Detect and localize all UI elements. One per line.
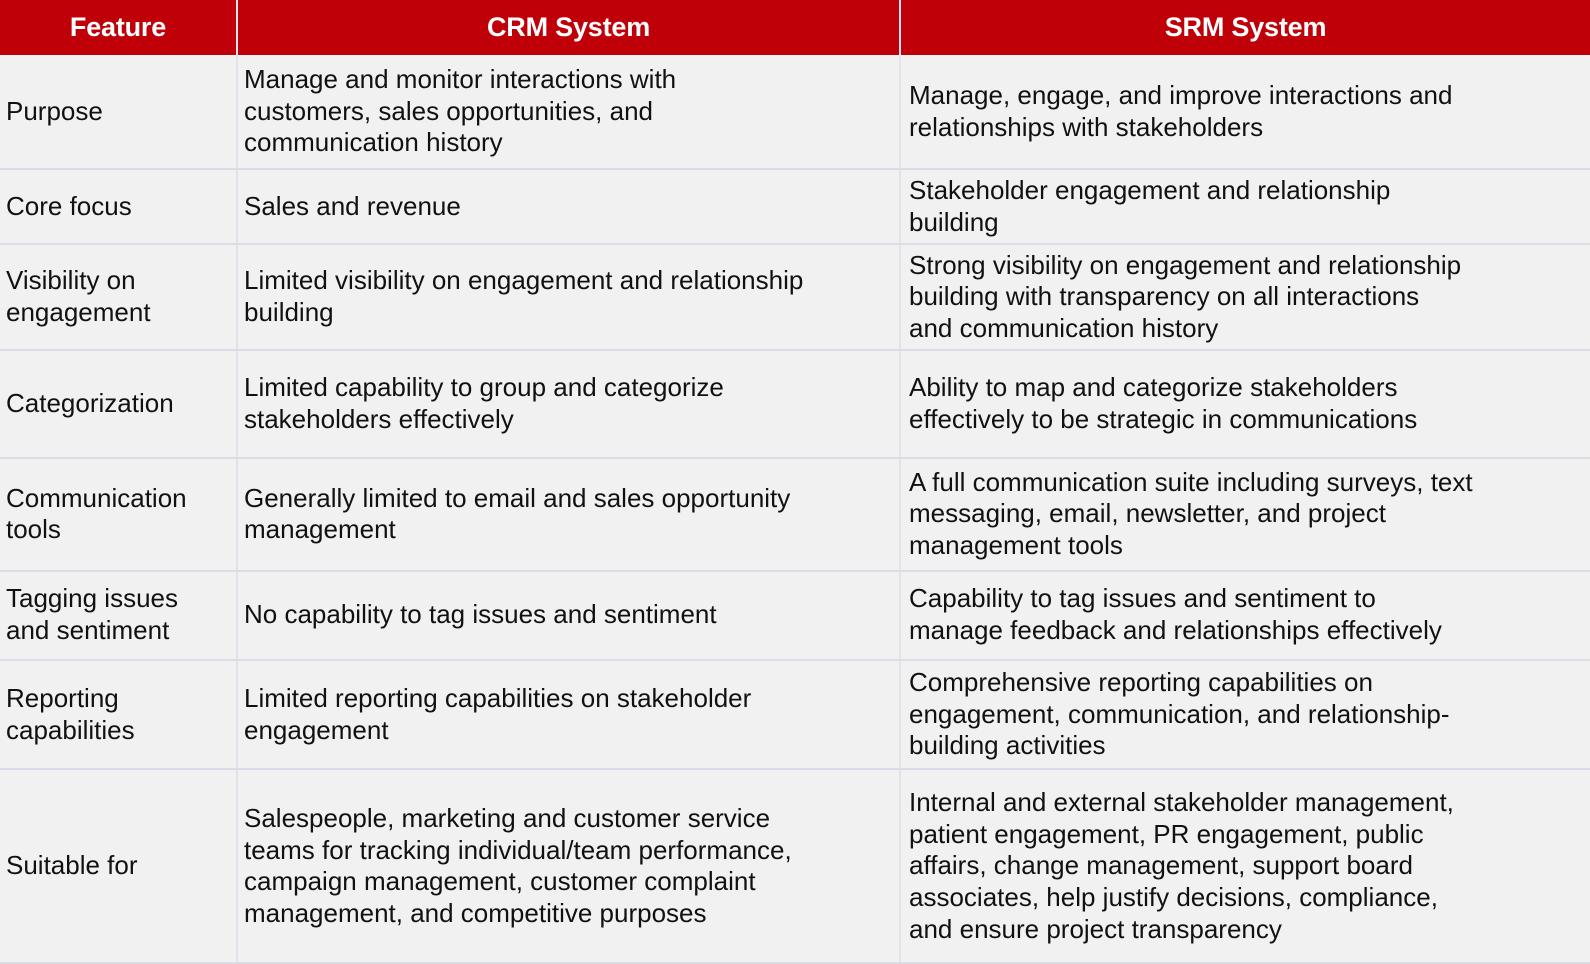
column-header-crm: CRM System	[237, 0, 900, 55]
cell-srm: Ability to map and categorize stakeholde…	[900, 350, 1590, 458]
cell-crm: Generally limited to email and sales opp…	[237, 458, 900, 571]
table-row: Reporting capabilities Limited reporting…	[0, 660, 1590, 770]
crm-value: Salespeople, marketing and customer serv…	[244, 803, 916, 930]
crm-value: Sales and revenue	[244, 191, 916, 223]
column-header-srm: SRM System	[900, 0, 1590, 55]
cell-crm: Limited visibility on engagement and rel…	[237, 244, 900, 350]
srm-value: Stakeholder engagement and relationship …	[909, 175, 1585, 238]
table-row: Purpose Manage and monitor interactions …	[0, 55, 1590, 169]
cell-srm: Stakeholder engagement and relationship …	[900, 169, 1590, 244]
cell-feature: Purpose	[0, 55, 237, 169]
column-header-feature: Feature	[0, 0, 237, 55]
srm-value: A full communication suite including sur…	[909, 467, 1585, 562]
table-row: Core focus Sales and revenue Stakeholder…	[0, 169, 1590, 244]
table-row: Tagging issues and sentiment No capabili…	[0, 571, 1590, 660]
srm-value: Capability to tag issues and sentiment t…	[909, 583, 1585, 646]
feature-label: Reporting capabilities	[6, 683, 242, 746]
cell-feature: Categorization	[0, 350, 237, 458]
cell-crm: Limited capability to group and categori…	[237, 350, 900, 458]
table-row: Visibility on engagement Limited visibil…	[0, 244, 1590, 350]
cell-srm: Comprehensive reporting capabilities on …	[900, 660, 1590, 770]
cell-feature: Core focus	[0, 169, 237, 244]
crm-value: No capability to tag issues and sentimen…	[244, 599, 916, 631]
srm-value: Ability to map and categorize stakeholde…	[909, 372, 1585, 435]
cell-srm: Internal and external stakeholder manage…	[900, 769, 1590, 963]
crm-value: Limited visibility on engagement and rel…	[244, 265, 916, 328]
cell-crm: Limited reporting capabilities on stakeh…	[237, 660, 900, 770]
header-row: Feature CRM System SRM System	[0, 0, 1590, 55]
srm-value: Manage, engage, and improve interactions…	[909, 80, 1585, 143]
cell-srm: Manage, engage, and improve interactions…	[900, 55, 1590, 169]
feature-label: Visibility on engagement	[6, 265, 242, 328]
crm-value: Limited reporting capabilities on stakeh…	[244, 683, 916, 746]
table-body: Purpose Manage and monitor interactions …	[0, 55, 1590, 963]
srm-value: Internal and external stakeholder manage…	[909, 787, 1585, 946]
cell-feature: Communication tools	[0, 458, 237, 571]
cell-srm: Strong visibility on engagement and rela…	[900, 244, 1590, 350]
cell-crm: Manage and monitor interactions with cus…	[237, 55, 900, 169]
cell-crm: Sales and revenue	[237, 169, 900, 244]
table-row: Communication tools Generally limited to…	[0, 458, 1590, 571]
feature-label: Suitable for	[6, 850, 242, 882]
crm-value: Generally limited to email and sales opp…	[244, 483, 916, 546]
cell-srm: Capability to tag issues and sentiment t…	[900, 571, 1590, 660]
crm-srm-comparison-table: Feature CRM System SRM System Purpose Ma…	[0, 0, 1590, 964]
cell-crm: No capability to tag issues and sentimen…	[237, 571, 900, 660]
table-row: Suitable for Salespeople, marketing and …	[0, 769, 1590, 963]
table-header: Feature CRM System SRM System	[0, 0, 1590, 55]
cell-feature: Tagging issues and sentiment	[0, 571, 237, 660]
cell-feature: Visibility on engagement	[0, 244, 237, 350]
crm-value: Manage and monitor interactions with cus…	[244, 64, 916, 159]
cell-feature: Suitable for	[0, 769, 237, 963]
feature-label: Tagging issues and sentiment	[6, 583, 242, 646]
feature-label: Communication tools	[6, 483, 242, 546]
cell-crm: Salespeople, marketing and customer serv…	[237, 769, 900, 963]
feature-label: Categorization	[6, 388, 242, 420]
feature-label: Core focus	[6, 191, 242, 223]
cell-feature: Reporting capabilities	[0, 660, 237, 770]
feature-label: Purpose	[6, 96, 242, 128]
crm-value: Limited capability to group and categori…	[244, 372, 916, 435]
table-row: Categorization Limited capability to gro…	[0, 350, 1590, 458]
cell-srm: A full communication suite including sur…	[900, 458, 1590, 571]
srm-value: Strong visibility on engagement and rela…	[909, 250, 1585, 345]
srm-value: Comprehensive reporting capabilities on …	[909, 667, 1585, 762]
